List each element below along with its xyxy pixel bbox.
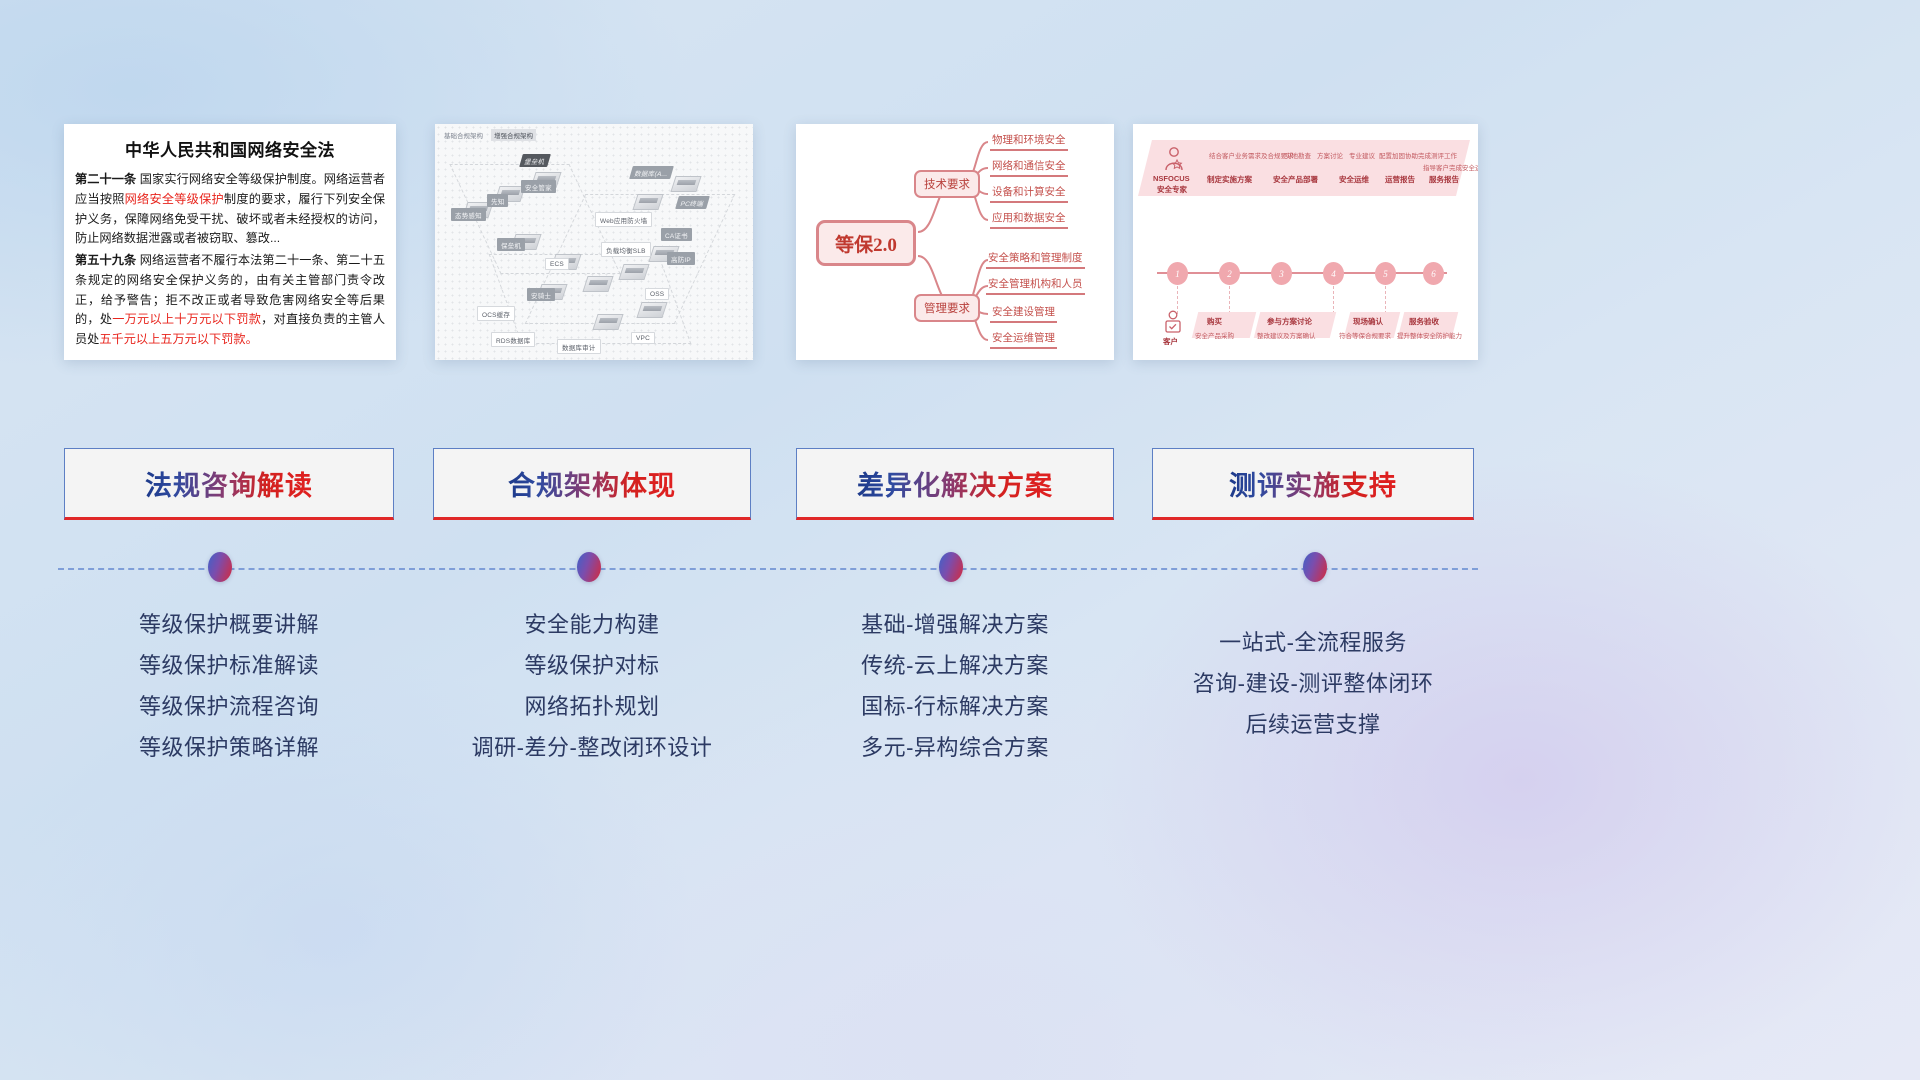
arch-node-4: 保垒机 xyxy=(497,238,525,251)
arch-node-11: 负载均衡SLB xyxy=(601,242,651,257)
article-59-highlight-b: 五千元以上五万元以下罚款。 xyxy=(99,332,257,346)
step-marker-2: 2 xyxy=(1219,262,1240,285)
list-item: 国标-行标解决方案 xyxy=(796,686,1114,727)
band-heading-2: 安全运维 xyxy=(1339,174,1369,185)
band-small-4: 配置加固 xyxy=(1379,150,1405,160)
mindmap-leaf-tech-0: 物理和环境安全 xyxy=(990,132,1068,151)
law-card: 中华人民共和国网络安全法 第二十一条 国家实行网络安全等级保护制度。网络运营者应… xyxy=(64,124,396,360)
step-marker-3: 3 xyxy=(1271,262,1292,285)
architecture-tabs: 基础合规架构 增强合规架构 xyxy=(441,129,536,141)
bottom-tag-0: 购买 xyxy=(1207,316,1222,327)
arch-node-15: VPC xyxy=(631,332,655,344)
mindmap-diagram: 等保2.0 技术要求 管理要求 物理和环境安全 xyxy=(796,124,1114,360)
bottom-small-3: 提升整体安全防护能力 xyxy=(1397,330,1462,340)
law-card-body: 中华人民共和国网络安全法 第二十一条 国家实行网络安全等级保护制度。网络运营者应… xyxy=(64,124,396,360)
band-heading-3: 运营报告 xyxy=(1385,174,1415,185)
bottom-small-2: 符合等保合规要求 xyxy=(1339,330,1391,340)
server-icon-13 xyxy=(636,302,667,318)
expert-person-icon xyxy=(1163,146,1185,172)
expert-label-line2: 安全专家 xyxy=(1157,184,1187,195)
list-item: 等级保护流程咨询 xyxy=(64,686,394,727)
pillar-title-box-4[interactable]: 测评实施支持 xyxy=(1152,448,1474,520)
pillar-title-2: 合规架构体现 xyxy=(508,464,676,503)
band-small-1: 实地勘查 xyxy=(1285,150,1311,160)
slide-root: 中华人民共和国网络安全法 第二十一条 国家实行网络安全等级保护制度。网络运营者应… xyxy=(0,0,1920,1080)
arch-node-17: PC终端 xyxy=(675,196,710,209)
mindmap-leaf-tech-2: 设备和计算安全 xyxy=(990,184,1068,203)
step-connector-2 xyxy=(1229,286,1230,314)
law-article-59: 第五十九条 网络运营者不履行本法第二十一条、第二十五条规定的网络安全保护义务的，… xyxy=(75,251,385,350)
server-icon-11 xyxy=(670,176,701,192)
article-59-label: 第五十九条 xyxy=(75,253,136,267)
timeline-dot-1[interactable] xyxy=(208,552,232,582)
arch-node-9: 数据库审计 xyxy=(557,339,601,354)
mindmap-card: 等保2.0 技术要求 管理要求 物理和环境安全 xyxy=(796,124,1114,360)
tab-enhanced-arch[interactable]: 增强合规架构 xyxy=(491,129,536,141)
band-small-2: 方案讨论 xyxy=(1317,150,1343,160)
timeline-axis xyxy=(1157,272,1447,274)
article-21-label: 第二十一条 xyxy=(75,172,136,186)
timeline-dashed-line xyxy=(58,568,1478,570)
image-card-row: 中华人民共和国网络安全法 第二十一条 国家实行网络安全等级保护制度。网络运营者应… xyxy=(0,124,1920,364)
list-item: 调研-差分-整改闭环设计 xyxy=(433,727,751,768)
customer-label: 客户 xyxy=(1163,336,1178,347)
list-item: 传统-云上解决方案 xyxy=(796,645,1114,686)
list-item: 多元-异构综合方案 xyxy=(796,727,1114,768)
list-item: 咨询-建设-测评整体闭环 xyxy=(1152,663,1474,704)
pillar-title-4: 测评实施支持 xyxy=(1229,464,1397,503)
step-connector-4 xyxy=(1333,286,1334,314)
architecture-diagram: 基础合规架构 增强合规架构 堡垒机 安 xyxy=(435,124,753,360)
step-marker-1: 1 xyxy=(1167,262,1188,285)
arch-node-16: 数据库(A... xyxy=(629,166,674,179)
pillar-title-3: 差异化解决方案 xyxy=(857,464,1053,503)
server-icon-12 xyxy=(592,314,623,330)
timeline-dot-2[interactable] xyxy=(577,552,601,582)
arch-node-14: OSS xyxy=(645,288,669,300)
arch-node-2: 先知 xyxy=(487,194,508,207)
timeline-dot-3[interactable] xyxy=(939,552,963,582)
list-item: 后续运营支撑 xyxy=(1152,704,1474,745)
mindmap-leaf-tech-3: 应用和数据安全 xyxy=(990,210,1068,229)
list-item: 等级保护标准解读 xyxy=(64,645,394,686)
band-heading-1: 安全产品部署 xyxy=(1273,174,1318,185)
pillar-list-3: 基础-增强解决方案 传统-云上解决方案 国标-行标解决方案 多元-异构综合方案 xyxy=(796,604,1114,769)
list-item: 基础-增强解决方案 xyxy=(796,604,1114,645)
step-marker-4: 4 xyxy=(1323,262,1344,285)
pillar-title-box-3[interactable]: 差异化解决方案 xyxy=(796,448,1114,520)
bottom-small-1: 整改建议及方案确认 xyxy=(1257,330,1316,340)
article-59-highlight-a: 一万元以上十万元以下罚款 xyxy=(112,312,261,326)
arch-node-1: 安全管家 xyxy=(521,180,556,193)
nsfocus-timeline: NSFOCUS 安全专家 结合客户业务需求及合规要求 实地勘查 方案讨论 专业建… xyxy=(1133,124,1478,360)
pillar-list-1: 等级保护概要讲解 等级保护标准解读 等级保护流程咨询 等级保护策略详解 xyxy=(64,604,394,769)
bottom-tag-3: 服务验收 xyxy=(1409,316,1439,327)
arch-node-10: Web应用防火墙 xyxy=(595,212,652,227)
arch-node-3: 态势感知 xyxy=(451,208,486,221)
customer-person-icon xyxy=(1163,310,1183,334)
band-small-5: 协助完成测评工作 xyxy=(1405,150,1457,160)
server-icon-8 xyxy=(618,264,649,280)
mindmap-branch-tech: 技术要求 xyxy=(914,170,980,198)
mindmap-leaf-mgmt-3: 安全运维管理 xyxy=(990,330,1057,349)
pillar-list-4: 一站式-全流程服务 咨询-建设-测评整体闭环 后续运营支撑 xyxy=(1152,622,1474,745)
bottom-tag-1: 参与方案讨论 xyxy=(1267,316,1312,327)
tab-basic-arch[interactable]: 基础合规架构 xyxy=(441,129,486,141)
mindmap-leaf-tech-1: 网络和通信安全 xyxy=(990,158,1068,177)
mindmap-leaf-mgmt-2: 安全建设管理 xyxy=(990,304,1057,323)
server-icon-10 xyxy=(632,194,663,210)
timeline-dot-4[interactable] xyxy=(1303,552,1327,582)
list-item: 等级保护策略详解 xyxy=(64,727,394,768)
list-item: 安全能力构建 xyxy=(433,604,751,645)
law-article-21: 第二十一条 国家实行网络安全等级保护制度。网络运营者应当按照网络安全等级保护制度… xyxy=(75,170,385,249)
arch-node-13: 高防IP xyxy=(667,252,695,265)
step-connector-5 xyxy=(1385,286,1386,314)
band-small-3: 专业建议 xyxy=(1349,150,1375,160)
mindmap-leaf-mgmt-0: 安全策略和管理制度 xyxy=(986,250,1085,269)
arch-node-6: 安骑士 xyxy=(527,288,555,301)
pillar-title-box-2[interactable]: 合规架构体现 xyxy=(433,448,751,520)
mindmap-branch-mgmt: 管理要求 xyxy=(914,294,980,322)
list-item: 等级保护概要讲解 xyxy=(64,604,394,645)
expert-label-line1: NSFOCUS xyxy=(1153,174,1190,183)
step-marker-6: 6 xyxy=(1423,262,1444,285)
bottom-small-0: 安全产品采购 xyxy=(1195,330,1234,340)
server-icon-7 xyxy=(582,276,613,292)
band-heading-4: 服务报告 xyxy=(1429,174,1459,185)
pillar-title-box-1[interactable]: 法规咨询解读 xyxy=(64,448,394,520)
nsfocus-card: NSFOCUS 安全专家 结合客户业务需求及合规要求 实地勘查 方案讨论 专业建… xyxy=(1133,124,1478,360)
arch-node-8: RDS数据库 xyxy=(491,332,535,347)
mindmap-leaf-mgmt-1: 安全管理机构和人员 xyxy=(986,276,1085,295)
arch-node-5: ECS xyxy=(545,258,569,270)
bottom-tag-2: 现场确认 xyxy=(1353,316,1383,327)
band-small-6: 指导客户完成安全运维工作 xyxy=(1423,162,1478,172)
article-21-highlight: 网络安全等级保护 xyxy=(125,192,224,206)
pillar-title-row: 法规咨询解读 合规架构体现 差异化解决方案 测评实施支持 xyxy=(0,448,1920,520)
architecture-card: 基础合规架构 增强合规架构 堡垒机 安 xyxy=(435,124,753,360)
band-heading-0: 制定实施方案 xyxy=(1207,174,1252,185)
list-item: 网络拓扑规划 xyxy=(433,686,751,727)
band-small-0: 结合客户业务需求及合规要求 xyxy=(1209,150,1294,160)
law-card-title: 中华人民共和国网络安全法 xyxy=(75,136,385,161)
step-marker-5: 5 xyxy=(1375,262,1396,285)
nsfocus-band xyxy=(1138,140,1470,196)
pillar-list-2: 安全能力构建 等级保护对标 网络拓扑规划 调研-差分-整改闭环设计 xyxy=(433,604,751,769)
list-item: 一站式-全流程服务 xyxy=(1152,622,1474,663)
arch-node-7: OCS缓存 xyxy=(477,306,515,321)
arch-node-12: CA证书 xyxy=(661,228,692,241)
list-item: 等级保护对标 xyxy=(433,645,751,686)
arch-node-0: 堡垒机 xyxy=(519,154,551,167)
pillar-title-1: 法规咨询解读 xyxy=(145,464,313,503)
